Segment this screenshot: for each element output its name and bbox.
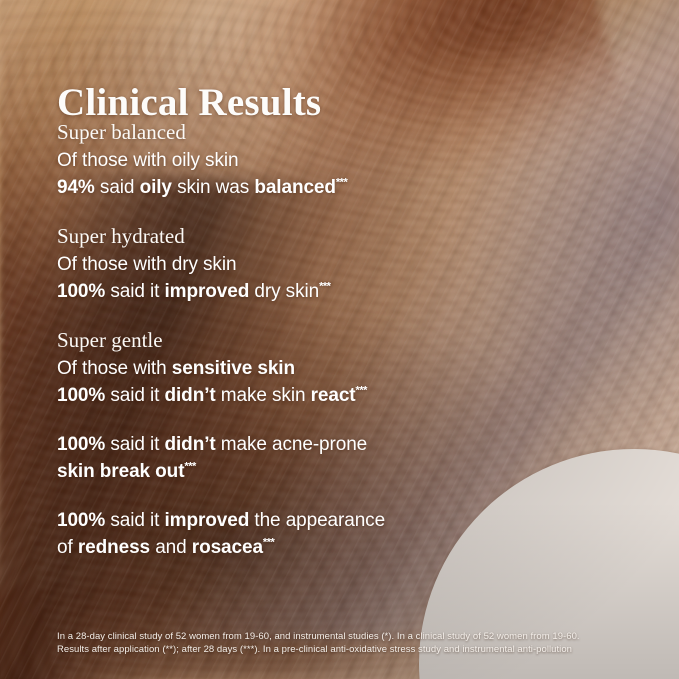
emphasis-text: sensitive skin <box>172 358 295 379</box>
footnote-marker: *** <box>263 537 274 549</box>
result-heading: Super hydrated <box>57 223 577 250</box>
result-line: of redness and rosacea*** <box>57 534 577 561</box>
result-block: Super balancedOf those with oily skin94%… <box>57 119 577 201</box>
result-heading: Super balanced <box>57 119 577 146</box>
result-line: 94% said oily skin was balanced*** <box>57 174 577 201</box>
emphasis-text: didn’t <box>165 385 216 406</box>
footnote-marker: *** <box>184 461 195 473</box>
plain-text: said it <box>105 510 164 531</box>
result-block: 100% said it improved the appearanceof r… <box>57 507 577 561</box>
result-line: 100% said it didn’t make skin react*** <box>57 382 577 409</box>
emphasis-text: rosacea <box>192 537 263 558</box>
plain-text: said <box>95 177 140 198</box>
plain-text: Of those with dry skin <box>57 254 236 275</box>
results-list: Super balancedOf those with oily skin94%… <box>57 119 577 583</box>
emphasis-text: 100% <box>57 434 105 455</box>
result-line: Of those with oily skin <box>57 147 577 174</box>
emphasis-text: 94% <box>57 177 95 198</box>
emphasis-text: balanced <box>254 177 336 198</box>
result-heading: Super gentle <box>57 327 577 354</box>
plain-text: of <box>57 537 78 558</box>
result-line: 100% said it improved the appearance <box>57 507 577 534</box>
footnote-line-2: Results after application (**); after 28… <box>57 643 657 656</box>
clinical-results-panel: Clinical Results Super balancedOf those … <box>0 0 679 679</box>
plain-text: Of those with oily skin <box>57 150 238 171</box>
emphasis-text: improved <box>165 281 250 302</box>
result-line: Of those with dry skin <box>57 251 577 278</box>
footnote-marker: *** <box>356 385 367 397</box>
result-line: Of those with sensitive skin <box>57 355 577 382</box>
emphasis-text: improved <box>165 510 250 531</box>
emphasis-text: didn’t <box>165 434 216 455</box>
emphasis-text: 100% <box>57 281 105 302</box>
result-line: 100% said it improved dry skin*** <box>57 278 577 305</box>
plain-text: and <box>150 537 192 558</box>
plain-text: skin was <box>172 177 254 198</box>
footnote-marker: *** <box>319 281 330 293</box>
emphasis-text: redness <box>78 537 150 558</box>
result-block: Super gentleOf those with sensitive skin… <box>57 327 577 409</box>
plain-text: dry skin <box>249 281 319 302</box>
result-block: 100% said it didn’t make acne-proneskin … <box>57 431 577 485</box>
content-column: Clinical Results Super balancedOf those … <box>57 0 617 679</box>
emphasis-text: 100% <box>57 510 105 531</box>
emphasis-text: react <box>311 385 356 406</box>
result-block: Super hydratedOf those with dry skin100%… <box>57 223 577 305</box>
plain-text: make skin <box>216 385 311 406</box>
footnote-line-1: In a 28-day clinical study of 52 women f… <box>57 630 657 643</box>
plain-text: said it <box>105 434 164 455</box>
plain-text: said it <box>105 281 164 302</box>
plain-text: Of those with <box>57 358 172 379</box>
emphasis-text: 100% <box>57 385 105 406</box>
plain-text: the appearance <box>249 510 385 531</box>
result-line: 100% said it didn’t make acne-prone <box>57 431 577 458</box>
plain-text: make acne-prone <box>216 434 368 455</box>
plain-text: said it <box>105 385 164 406</box>
footnote: In a 28-day clinical study of 52 women f… <box>57 630 657 656</box>
emphasis-text: skin break out <box>57 461 184 482</box>
footnote-marker: *** <box>336 177 347 189</box>
result-line: skin break out*** <box>57 458 577 485</box>
emphasis-text: oily <box>140 177 172 198</box>
